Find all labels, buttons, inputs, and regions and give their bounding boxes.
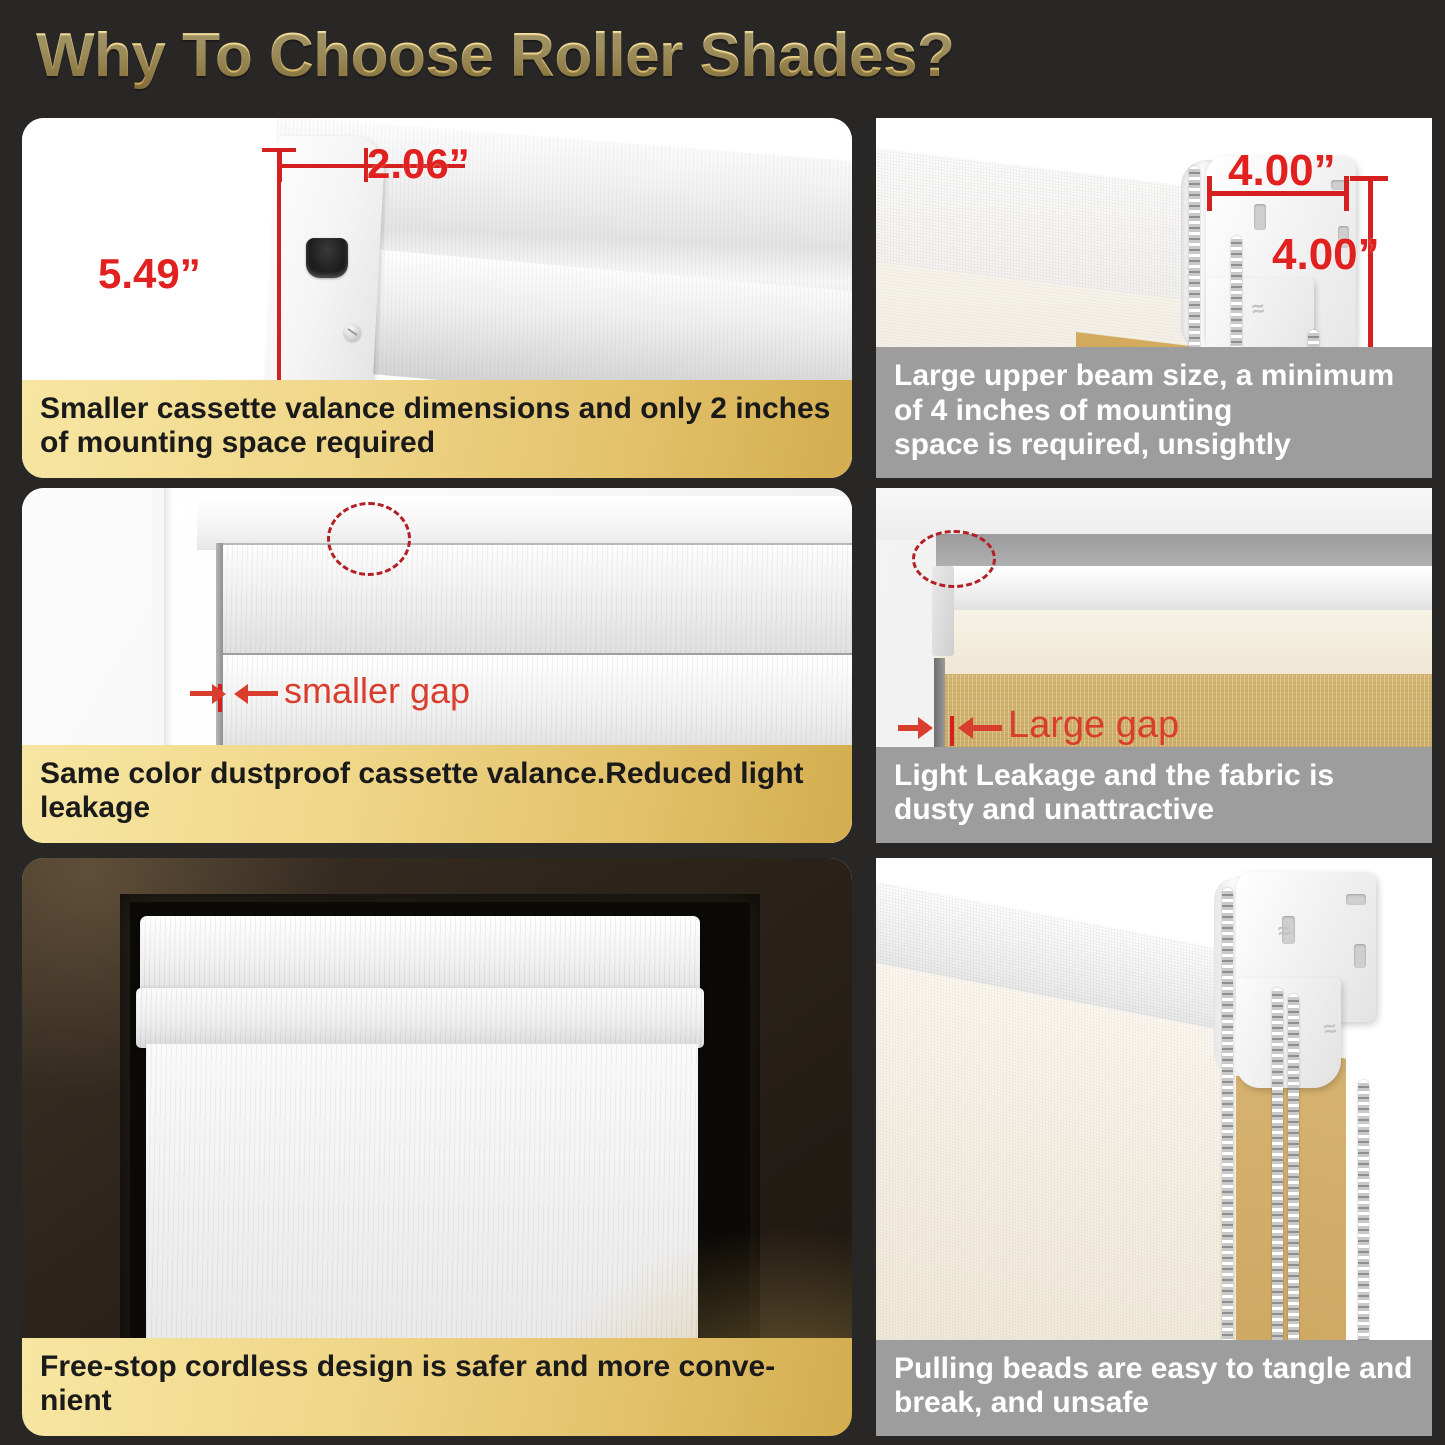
gap-arrow-right-head: [958, 717, 973, 739]
panel-con-light-leakage: Large gap Light Leakage and the fabric i…: [876, 488, 1432, 843]
dimension-height-label: 5.49”: [98, 250, 201, 298]
gap-label-large: Large gap: [1008, 704, 1179, 747]
gap-arrow-right-head: [234, 684, 248, 704]
caption-con-beaded-chain: Pulling beads are easy to tangle and bre…: [876, 1340, 1432, 1436]
height-dim-tick-top: [262, 148, 296, 152]
caption-con-mounting-space: Large upper beam size, a minimum of 4 in…: [876, 347, 1432, 478]
caption-pro-cordless: Free-stop cordless design is safer and m…: [22, 1338, 852, 1436]
caption-pro-mounting-space: Smaller cassette valance dimensions and …: [22, 380, 852, 478]
height-dim-tick-top: [1350, 176, 1388, 181]
width-dim-tick-left: [1207, 176, 1212, 211]
panel-pro-mounting-space: 2.06” 5.49” Smaller cassette valance dim…: [22, 118, 852, 478]
bead-chain-mid-2: [1288, 994, 1299, 1368]
screw-icon: [344, 324, 361, 341]
dimension-width-label: 4.00”: [1228, 146, 1336, 196]
comparison-grid: 2.06” 5.49” Smaller cassette valance dim…: [0, 110, 1445, 1445]
gap-label-smaller: smaller gap: [284, 670, 470, 712]
bead-chain-mid: [1272, 988, 1283, 1368]
page-header: Why To Choose Roller Shades?: [0, 0, 1445, 110]
panel-con-beaded-chain: ≈ ≈ Pulling beads are easy to tangle and…: [876, 858, 1432, 1436]
highlight-circle-icon: [912, 530, 996, 588]
caption-con-light-leakage: Light Leakage and the fabric is dusty an…: [876, 747, 1432, 843]
gap-arrow-left-head: [212, 684, 226, 704]
gap-arrow-right-shaft: [972, 725, 1002, 731]
caption-pro-light-leakage: Same color dustproof cassette valance.Re…: [22, 745, 852, 843]
dimension-width-label: 2.06”: [367, 140, 470, 188]
cord-slot: [306, 238, 348, 278]
gap-arrow-left-head: [918, 717, 933, 739]
cassette-valance-top: [140, 916, 700, 994]
bead-chain-left: [1222, 888, 1233, 1368]
panel-con-mounting-space: ≈ 4.00” 4.00” Large upper beam size, a m…: [876, 118, 1432, 478]
bead-chain-right: [1358, 1080, 1369, 1368]
page-title: Why To Choose Roller Shades?: [36, 20, 954, 91]
cassette-valance-bottom: [136, 988, 704, 1048]
panel-pro-light-leakage: smaller gap Same color dustproof cassett…: [22, 488, 852, 843]
highlight-circle-icon: [327, 502, 411, 576]
width-dim-tick-right: [1344, 176, 1349, 211]
panel-pro-cordless: Free-stop cordless design is safer and m…: [22, 858, 852, 1436]
gap-arrow-right-shaft: [248, 691, 278, 696]
dimension-height-label: 4.00”: [1272, 230, 1380, 280]
